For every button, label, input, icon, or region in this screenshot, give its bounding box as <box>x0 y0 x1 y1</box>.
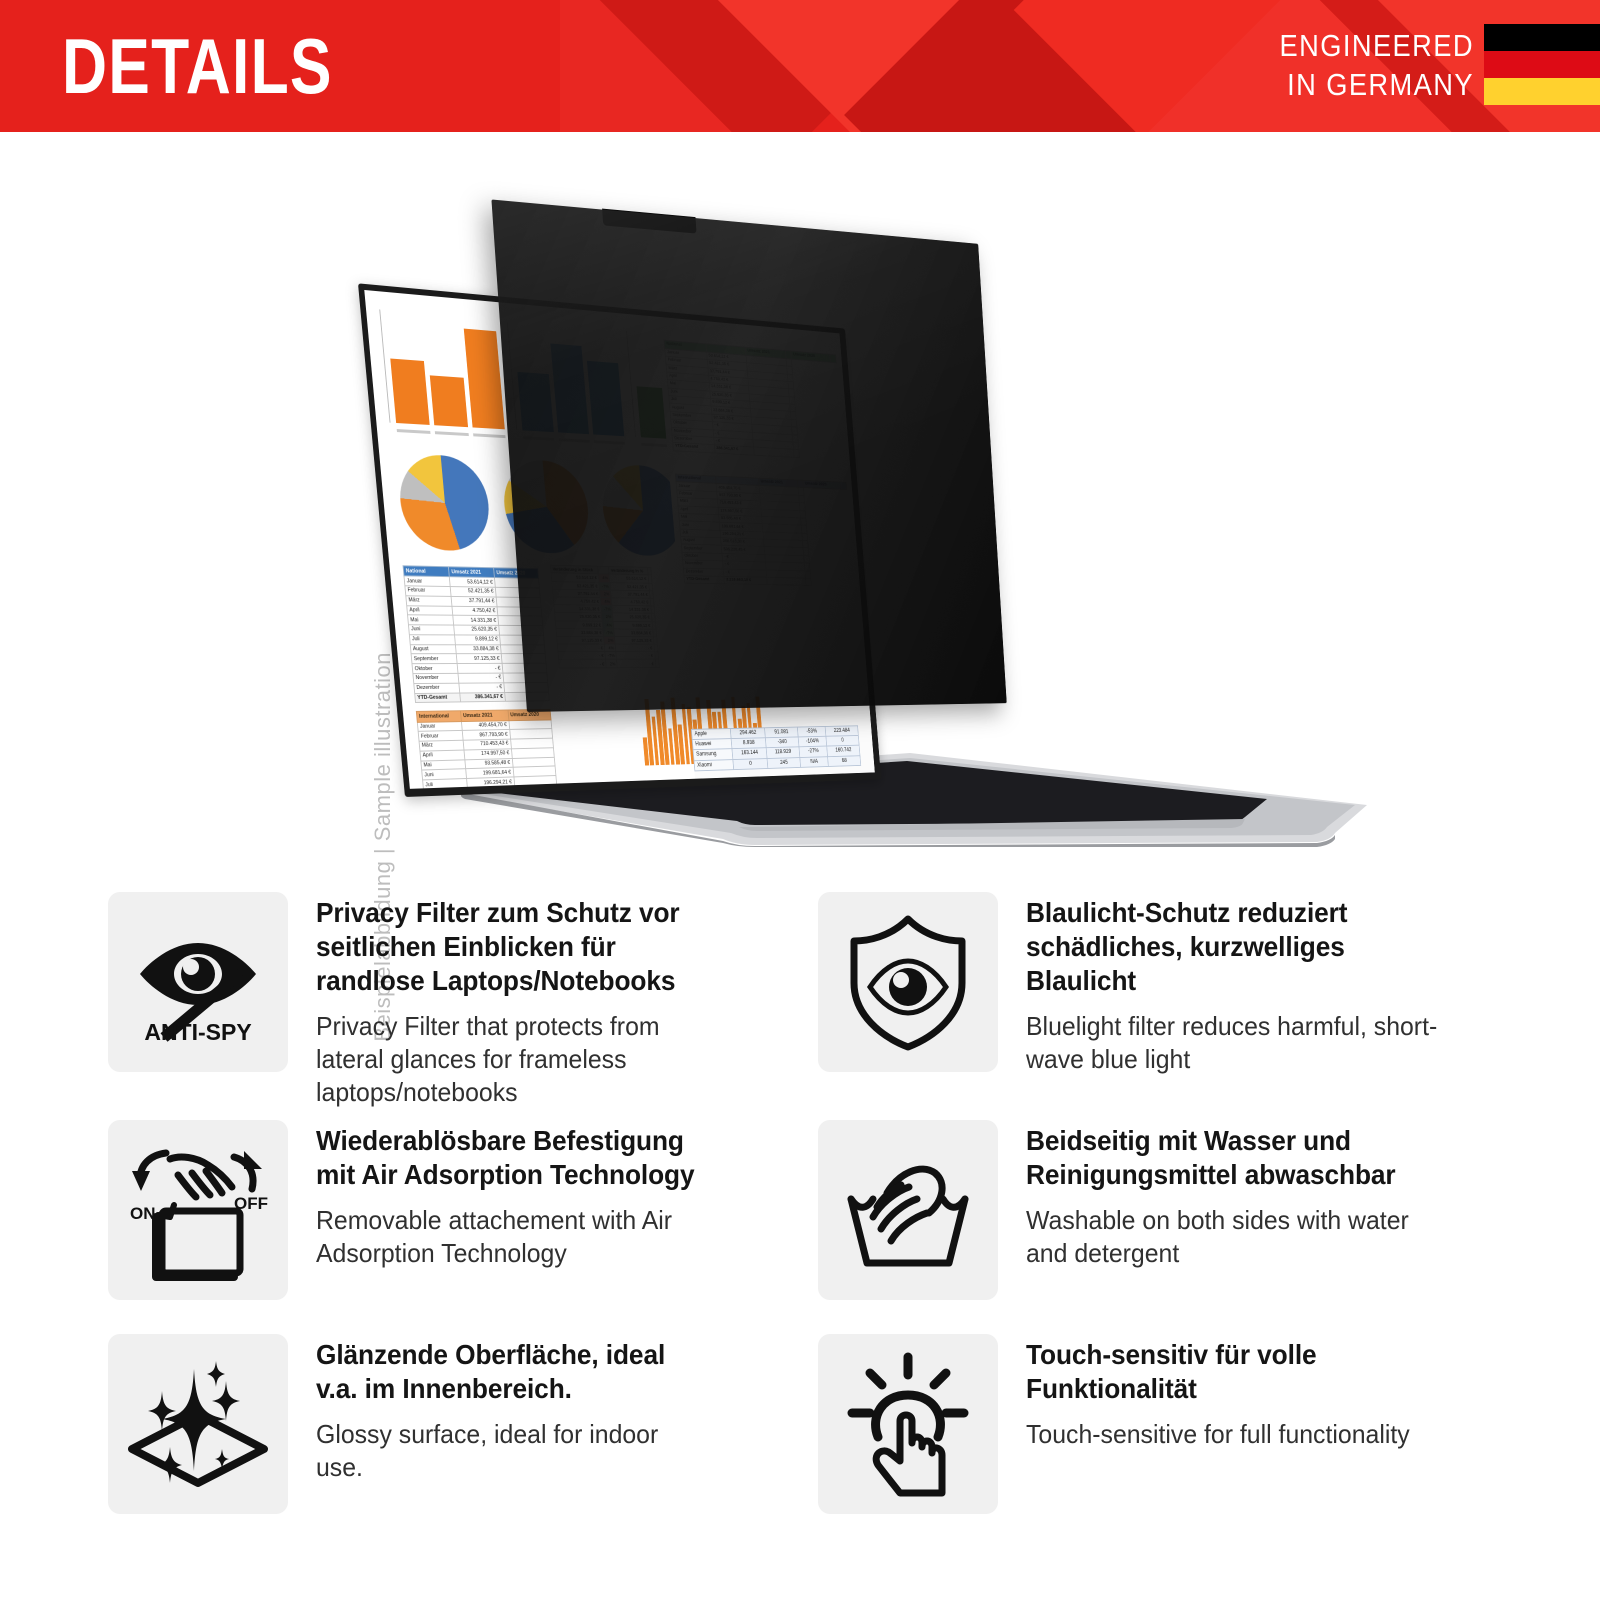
anti-spy-label: ANTI-SPY <box>144 1019 251 1045</box>
feature-subtext-en: Bluelight filter reduces harmful, short-… <box>1026 1010 1439 1076</box>
on-off-hand-attach-icon: ON OFF <box>108 1120 288 1300</box>
filter-glare <box>491 199 1006 712</box>
pie-chart <box>396 453 493 552</box>
feature-headline-de: Touch-sensitiv für volle Funktionalität <box>1026 1338 1439 1406</box>
hero-product-image: Beispielabbildung | Sample illustration <box>0 132 1600 872</box>
feature-item-anti-spy: ANTI-SPY Privacy Filter zum Schutz vor s… <box>108 892 728 1109</box>
off-label: OFF <box>234 1194 268 1213</box>
engineered-line1: ENGINEERED <box>1280 26 1474 65</box>
glossy-sparkle-icon <box>108 1334 288 1514</box>
product-detail-infographic: DETAILS ENGINEERED IN GERMANY Beispielab… <box>0 0 1600 1600</box>
on-label: ON <box>130 1204 156 1223</box>
engineered-badge: ENGINEERED IN GERMANY <box>1253 26 1474 104</box>
privacy-filter-panel <box>491 199 1006 712</box>
feature-subtext-en: Glossy surface, ideal for indoor use. <box>316 1418 709 1484</box>
feature-grid: ANTI-SPY Privacy Filter zum Schutz vor s… <box>0 880 1600 1600</box>
feature-item-removable: ON OFF Wiederablösbare Befestigung mit A… <box>108 1120 728 1300</box>
international-table: InternationalUmsatz 2021Umsatz 2020Janua… <box>416 709 562 789</box>
feature-headline-de: Wiederablösbare Befestigung mit Air Adso… <box>316 1124 709 1192</box>
touch-finger-icon <box>818 1334 998 1514</box>
feature-subtext-en: Washable on both sides with water and de… <box>1026 1204 1439 1270</box>
hand-wash-basin-icon <box>818 1120 998 1300</box>
feature-headline-de: Privacy Filter zum Schutz vor seitlichen… <box>316 896 709 998</box>
feature-item-glossy: Glänzende Oberfläche, ideal v.a. im Inne… <box>108 1334 728 1514</box>
feature-subtext-en: Removable attachement with Air Adsorptio… <box>316 1204 709 1270</box>
engineered-line2: IN GERMANY <box>1280 65 1474 104</box>
brand-comparison-table: Apple294.46291.081-53%223.484Huawei8.938… <box>691 725 861 771</box>
feature-item-touch: Touch-sensitiv für volle Funktionalität … <box>818 1334 1458 1514</box>
shield-eye-icon <box>818 892 998 1072</box>
page-header: DETAILS ENGINEERED IN GERMANY <box>0 0 1600 132</box>
feature-headline-de: Glänzende Oberfläche, ideal v.a. im Inne… <box>316 1338 709 1406</box>
feature-subtext-en: Touch-sensitive for full functionality <box>1026 1418 1439 1451</box>
feature-item-bluelight: Blaulicht-Schutz reduziert schädliches, … <box>818 892 1458 1076</box>
german-flag-icon <box>1484 24 1600 105</box>
feature-headline-de: Blaulicht-Schutz reduziert schädliches, … <box>1026 896 1439 998</box>
feature-item-washable: Beidseitig mit Wasser und Reinigungsmitt… <box>818 1120 1458 1300</box>
feature-headline-de: Beidseitig mit Wasser und Reinigungsmitt… <box>1026 1124 1439 1192</box>
mini-bar-chart <box>379 305 506 443</box>
feature-subtext-en: Privacy Filter that protects from latera… <box>316 1010 709 1109</box>
anti-spy-eye-icon: ANTI-SPY <box>108 892 288 1072</box>
page-title: DETAILS <box>62 22 333 110</box>
